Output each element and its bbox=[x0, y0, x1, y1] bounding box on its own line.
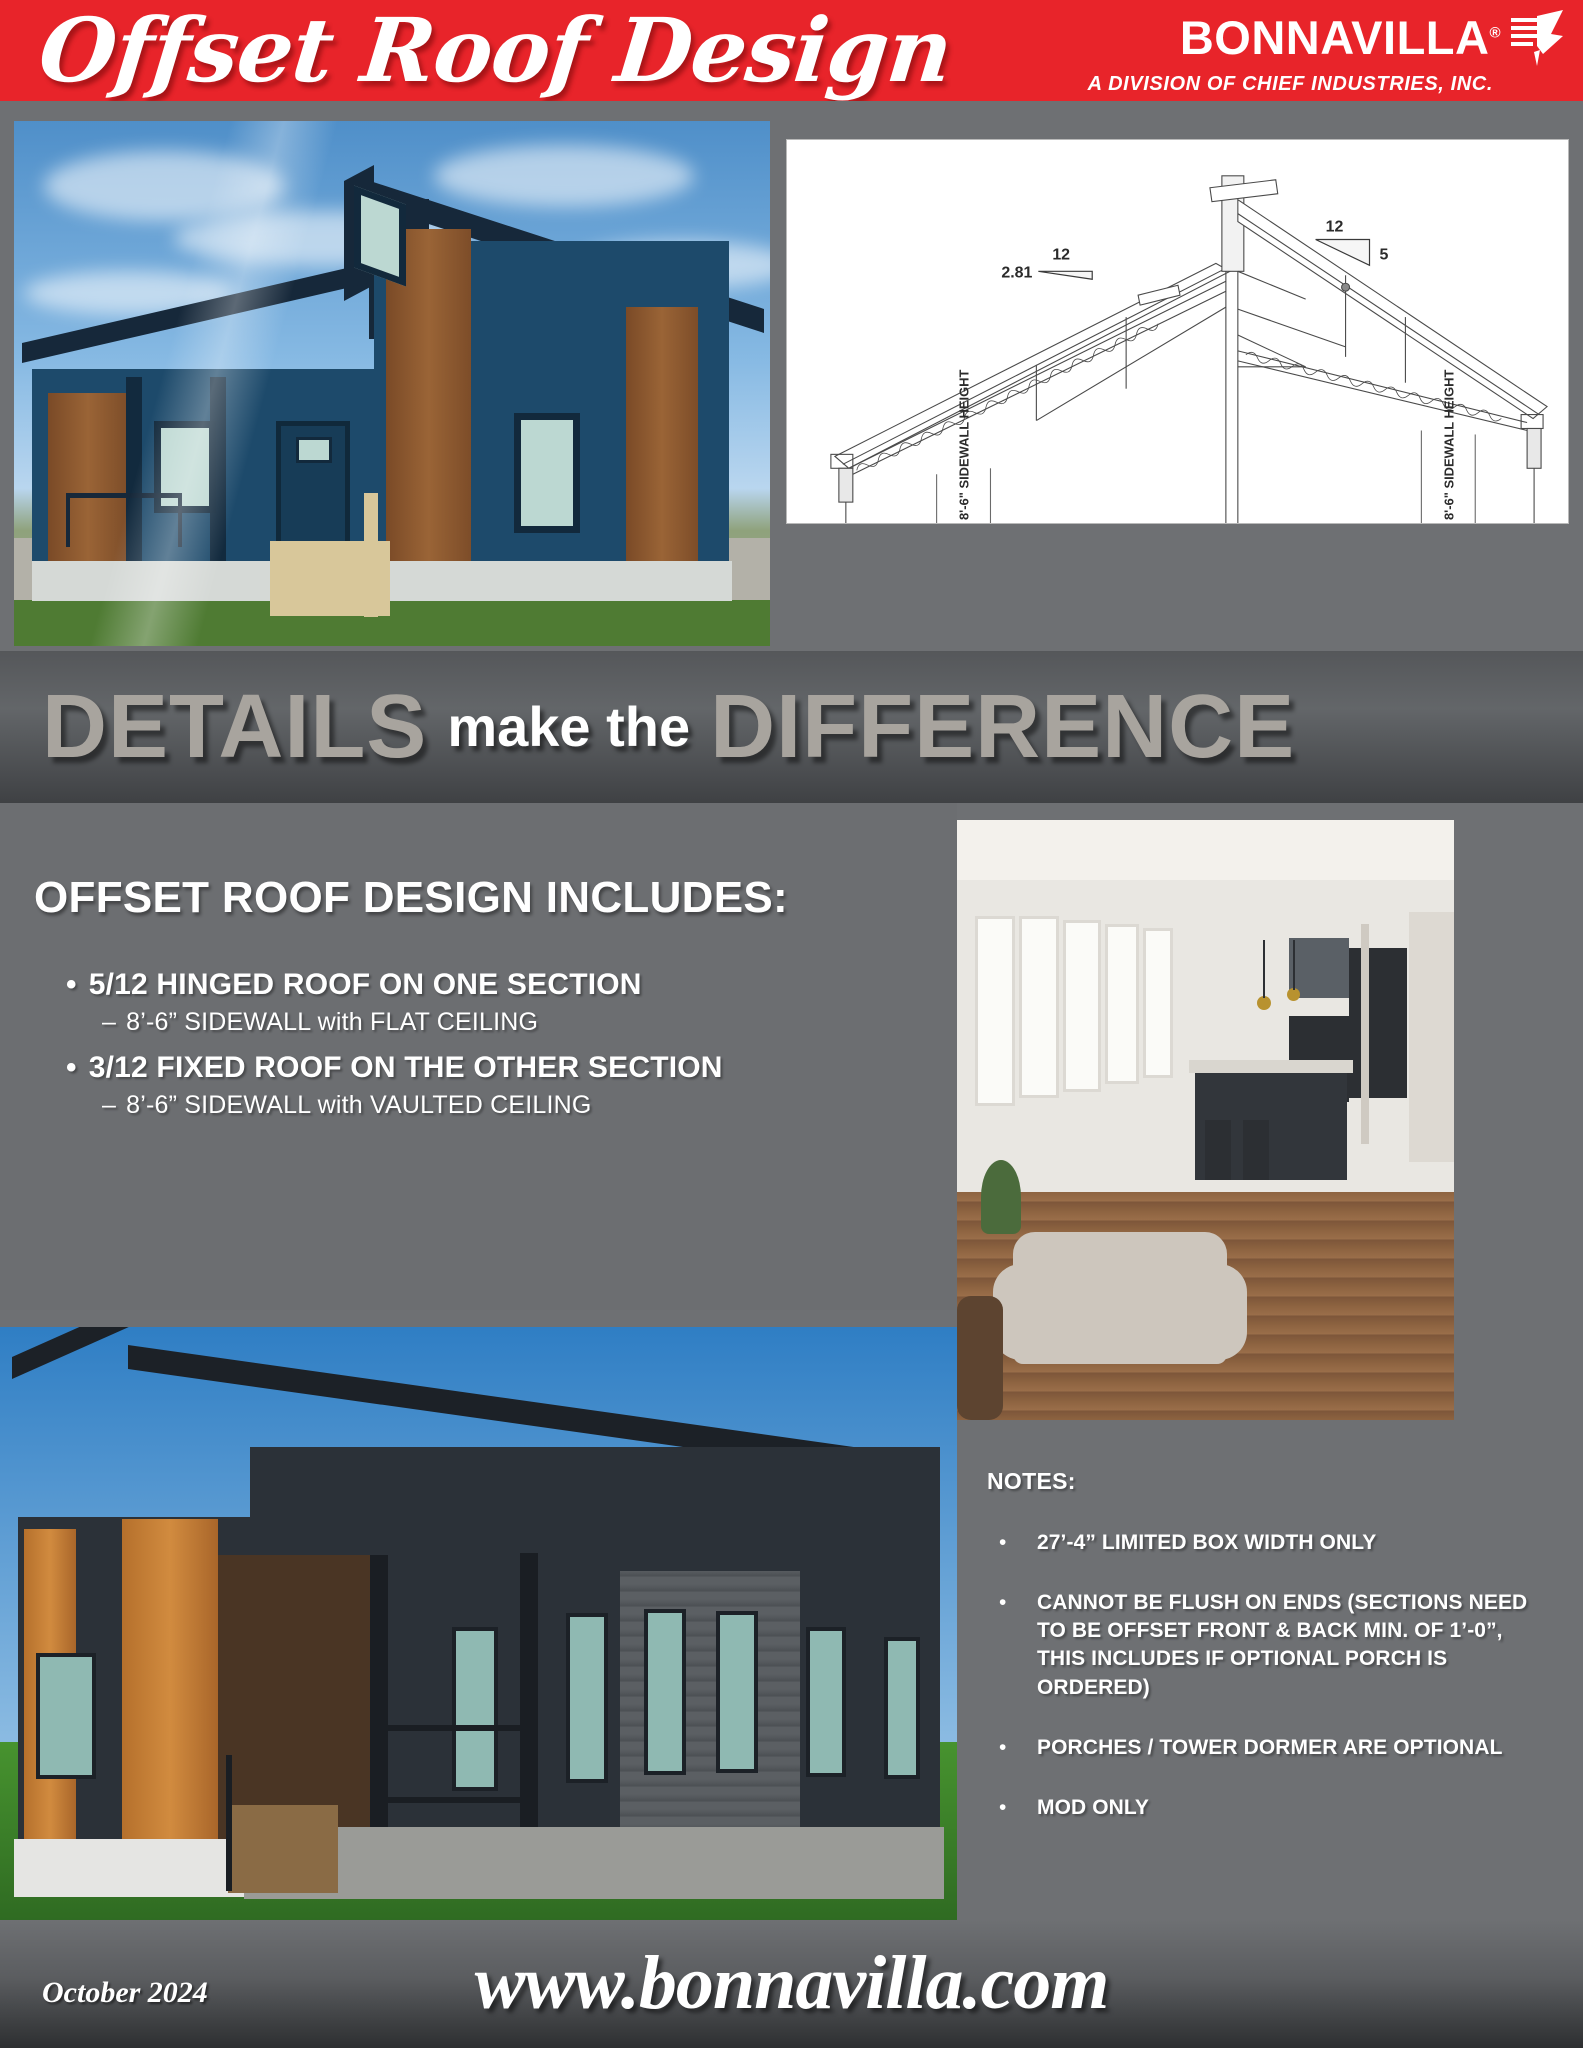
note-text: MOD ONLY bbox=[1037, 1794, 1149, 1822]
main-content: OFFSET ROOF DESIGN INCLUDES: 5/12 HINGED… bbox=[0, 803, 1583, 1920]
notes-panel: NOTES: • 27’-4” LIMITED BOX WIDTH ONLY •… bbox=[957, 1443, 1583, 1920]
hero-home-photo bbox=[14, 121, 770, 646]
left-slope-rise-label: 2.81 bbox=[1001, 264, 1032, 281]
note-bullet-icon: • bbox=[987, 1734, 1037, 1762]
page-title: Offset Roof Design bbox=[35, 0, 957, 101]
left-slope-run-label: 12 bbox=[1052, 246, 1070, 263]
diagram-svg: 2.81 12 12 5 8'-6" SIDEWALL HEIGHT 8'-6"… bbox=[787, 140, 1568, 523]
banner-word-details: DETAILS bbox=[42, 682, 427, 772]
feature-item-sub: 8’-6” SIDEWALL with FLAT CEILING bbox=[66, 1008, 957, 1037]
features-heading: OFFSET ROOF DESIGN INCLUDES: bbox=[34, 873, 957, 923]
brand-tagline: A DIVISION OF CHIEF INDUSTRIES, INC. bbox=[1009, 73, 1569, 96]
footer-website-url[interactable]: www.bonnavilla.com bbox=[0, 1940, 1583, 2027]
brand-logo: BONNAVILLA® A DIVISION OF CHIEF INDUSTRI… bbox=[1009, 6, 1569, 96]
right-sidewall-height-label: 8'-6" SIDEWALL HEIGHT bbox=[1441, 370, 1456, 520]
note-text: 27’-4” LIMITED BOX WIDTH ONLY bbox=[1037, 1529, 1376, 1557]
top-media-row: 2.81 12 12 5 8'-6" SIDEWALL HEIGHT 8'-6"… bbox=[0, 101, 1583, 651]
note-item: • PORCHES / TOWER DORMER ARE OPTIONAL bbox=[987, 1734, 1553, 1762]
banner-word-make-the: make the bbox=[447, 699, 690, 755]
feature-item-sub: 8’-6” SIDEWALL with VAULTED CEILING bbox=[66, 1091, 957, 1120]
note-item: • 27’-4” LIMITED BOX WIDTH ONLY bbox=[987, 1529, 1553, 1557]
note-text: PORCHES / TOWER DORMER ARE OPTIONAL bbox=[1037, 1734, 1503, 1762]
note-bullet-icon: • bbox=[987, 1529, 1037, 1557]
details-banner: DETAILS make the DIFFERENCE bbox=[0, 651, 1583, 803]
page-header: Offset Roof Design BONNAVILLA® A DIVISIO… bbox=[0, 0, 1583, 101]
feature-item-main: 5/12 HINGED ROOF ON ONE SECTION bbox=[66, 968, 957, 1002]
features-list: 5/12 HINGED ROOF ON ONE SECTION 8’-6” SI… bbox=[34, 968, 957, 1120]
right-slope-run-label: 12 bbox=[1326, 219, 1344, 236]
note-item: • MOD ONLY bbox=[987, 1794, 1553, 1822]
note-bullet-icon: • bbox=[987, 1794, 1037, 1822]
interior-kitchen-photo bbox=[957, 820, 1454, 1420]
feature-item-main: 3/12 FIXED ROOF ON THE OTHER SECTION bbox=[66, 1051, 957, 1085]
diagram-frame: 2.81 12 12 5 8'-6" SIDEWALL HEIGHT 8'-6"… bbox=[786, 139, 1569, 524]
left-sidewall-height-label: 8'-6" SIDEWALL HEIGHT bbox=[957, 370, 972, 520]
exterior-home-photo bbox=[0, 1327, 957, 1920]
note-bullet-icon: • bbox=[987, 1589, 1037, 1702]
note-item: • CANNOT BE FLUSH ON ENDS (SECTIONS NEED… bbox=[987, 1589, 1553, 1702]
chief-flag-icon bbox=[1507, 6, 1569, 68]
features-panel: OFFSET ROOF DESIGN INCLUDES: 5/12 HINGED… bbox=[0, 803, 957, 1310]
notes-heading: NOTES: bbox=[987, 1468, 1553, 1495]
left-slope-symbol bbox=[1038, 271, 1092, 279]
roof-section-diagram: 2.81 12 12 5 8'-6" SIDEWALL HEIGHT 8'-6"… bbox=[786, 139, 1569, 524]
right-slope-rise-label: 5 bbox=[1379, 246, 1388, 263]
brand-wordmark: BONNAVILLA® bbox=[1180, 14, 1501, 61]
banner-word-difference: DIFFERENCE bbox=[710, 682, 1295, 772]
brand-name-tail: VILLA bbox=[1351, 11, 1489, 64]
brand-name-main: BONNA bbox=[1180, 11, 1351, 64]
brand-registered-mark: ® bbox=[1489, 24, 1501, 41]
note-text: CANNOT BE FLUSH ON ENDS (SECTIONS NEED T… bbox=[1037, 1589, 1553, 1702]
page-footer: October 2024 www.bonnavilla.com bbox=[0, 1920, 1583, 2048]
